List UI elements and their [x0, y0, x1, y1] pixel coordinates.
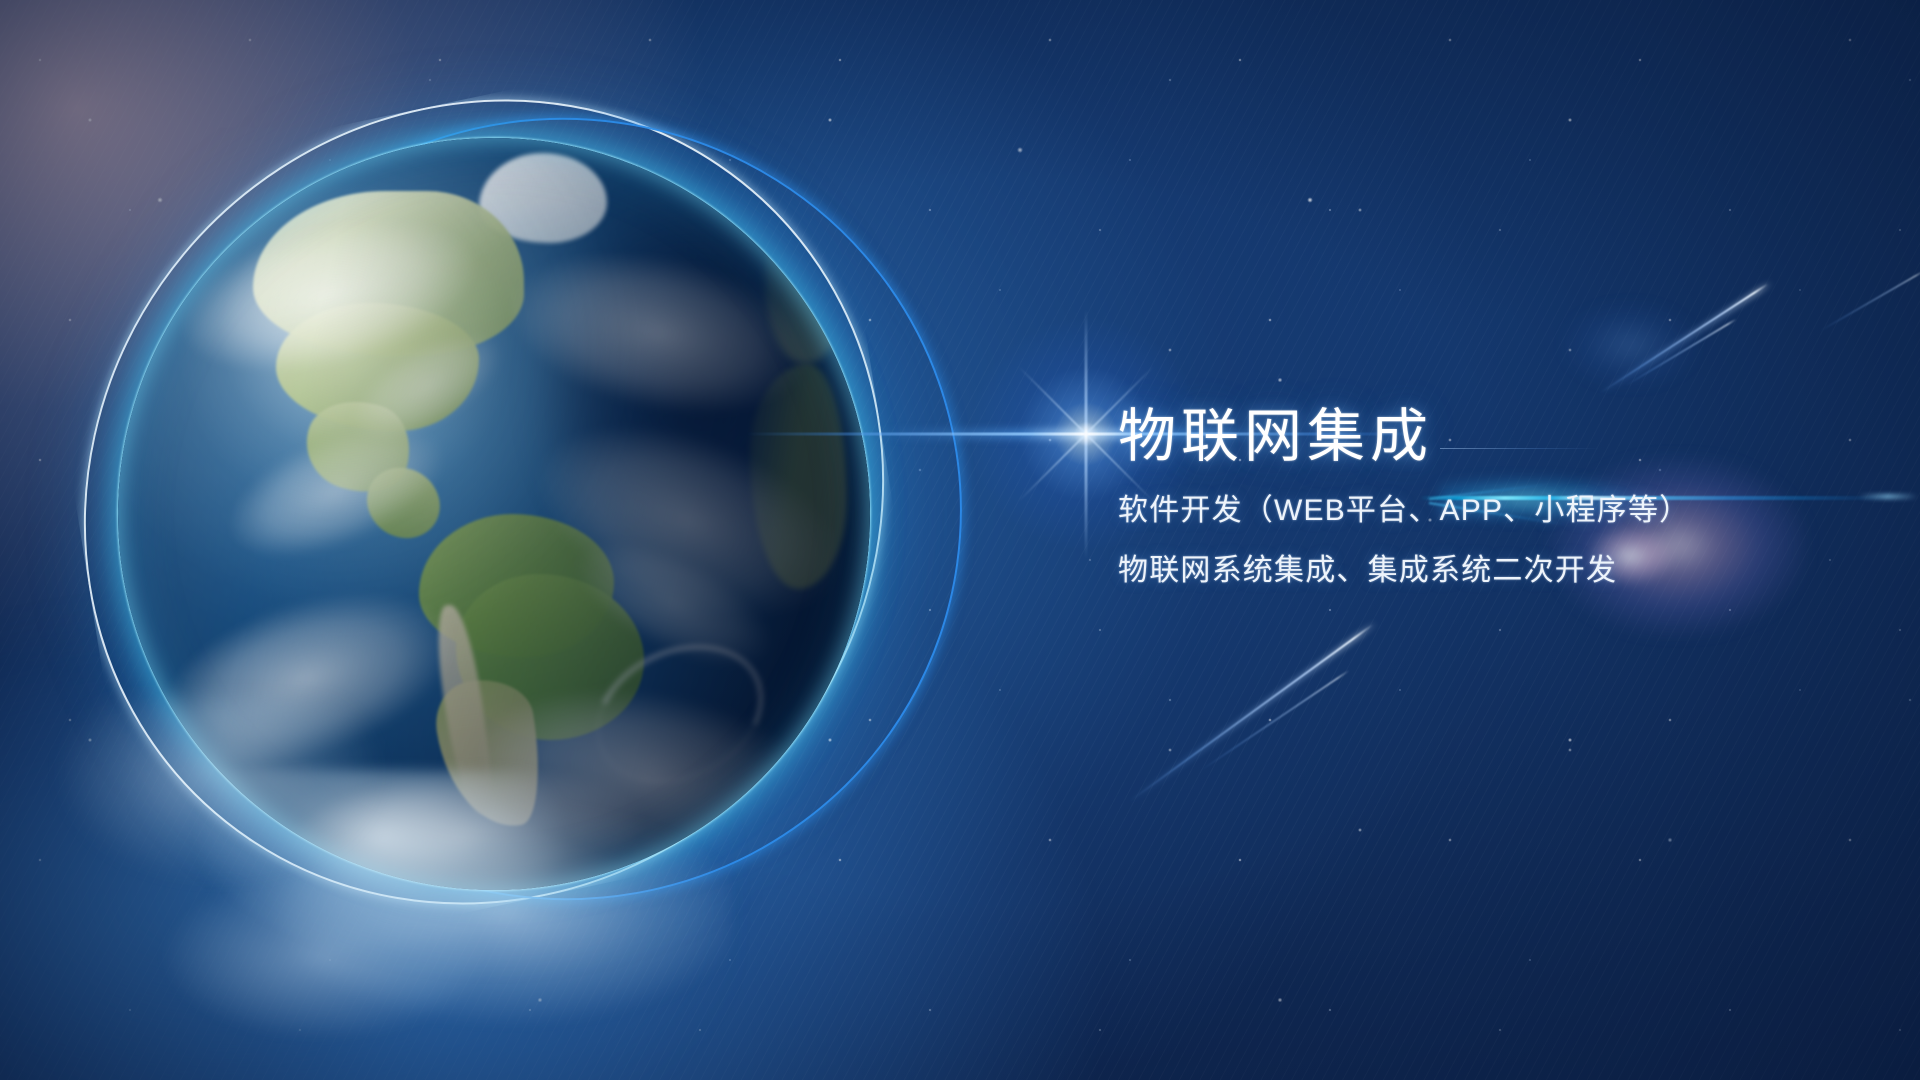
- blue-bokeh-glow: [1560, 300, 1700, 390]
- banner-copy: 物联网集成 软件开发（WEB平台、APP、小程序等） 物联网系统集成、集成系统二…: [1118, 408, 1838, 586]
- page-title: 物联网集成: [1118, 408, 1838, 466]
- subtitle-line-2: 物联网系统集成、集成系统二次开发: [1118, 556, 1838, 586]
- subtitle-line-1: 软件开发（WEB平台、APP、小程序等）: [1118, 496, 1838, 526]
- banner-stage: 物联网集成 软件开发（WEB平台、APP、小程序等） 物联网系统集成、集成系统二…: [0, 0, 1920, 1080]
- cyan-streak-far-dot: [1858, 494, 1918, 499]
- globe-mist-secondary: [60, 700, 380, 880]
